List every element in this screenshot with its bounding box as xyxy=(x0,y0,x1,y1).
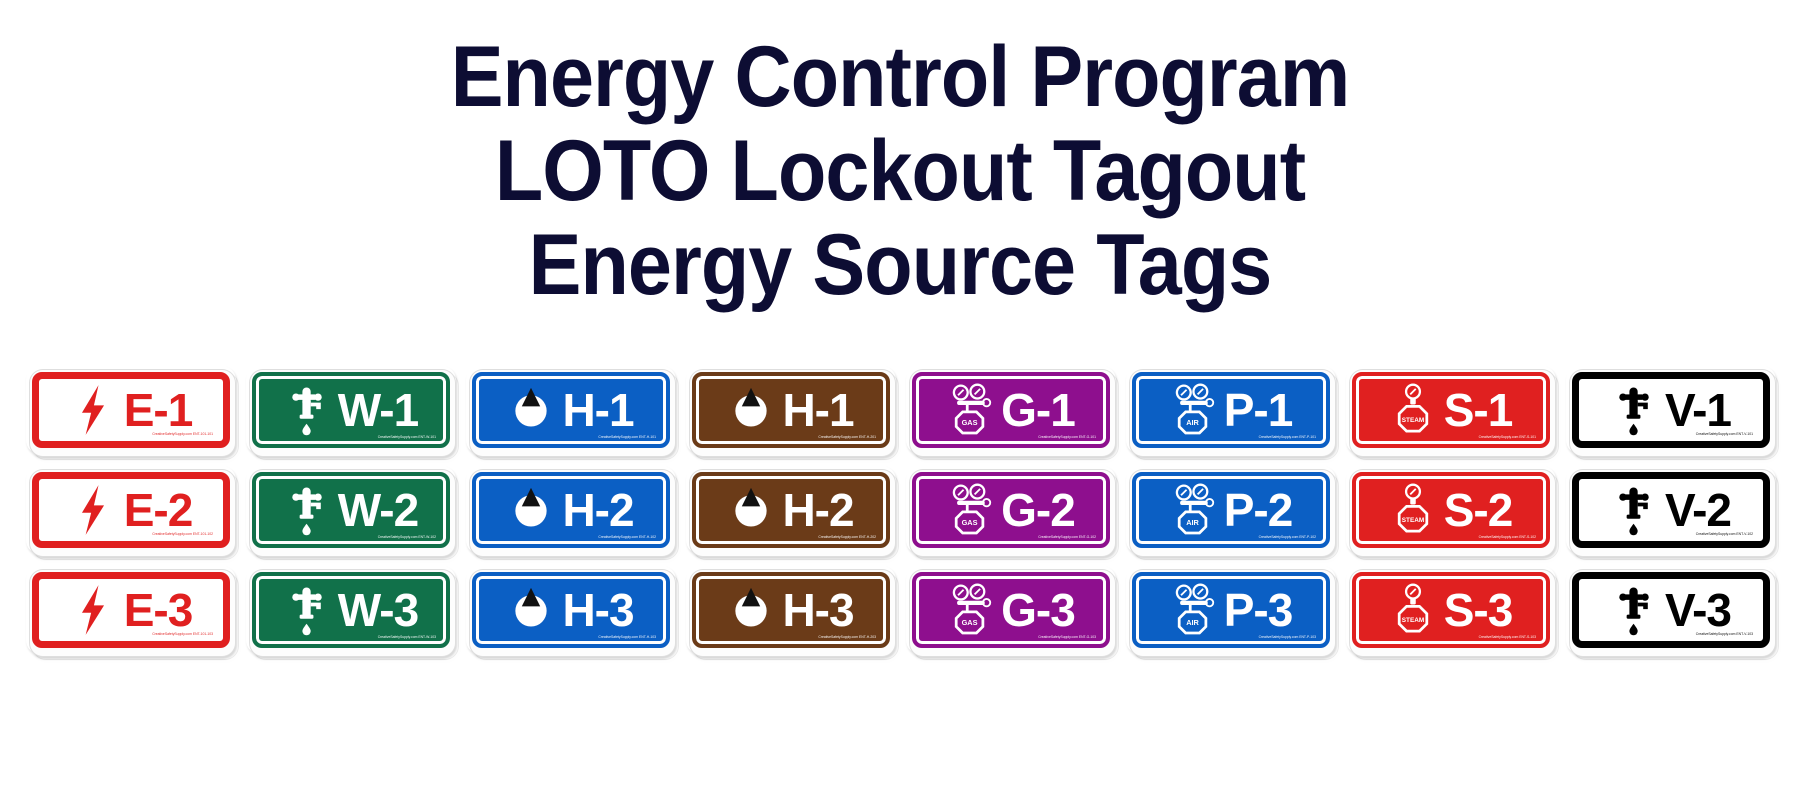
steam-valve-icon: STEAM xyxy=(1390,482,1436,538)
tag-label: H-1 xyxy=(562,387,633,433)
tag-label: S-3 xyxy=(1444,587,1513,633)
tag-label: E-1 xyxy=(124,387,193,433)
lightning-bolt-icon xyxy=(70,482,116,538)
energy-source-tag-electrical-e-1[interactable]: E-1CreativeSafetySupply.com ENT-101-101 xyxy=(26,366,236,454)
tag-label: E-2 xyxy=(124,487,193,533)
hydraulic-drop-icon xyxy=(728,482,774,538)
tag-plate: AIRP-2CreativeSafetySupply.com ENT-P-102 xyxy=(1132,472,1330,548)
tag-plate: H-2CreativeSafetySupply.com ENT-H-102 xyxy=(472,472,670,548)
energy-source-tag-steam-s-3[interactable]: STEAMS-3CreativeSafetySupply.com ENT-S-1… xyxy=(1346,566,1556,654)
tag-fineprint: CreativeSafetySupply.com ENT-V-101 xyxy=(1696,432,1753,436)
tag-fineprint: CreativeSafetySupply.com ENT-W-101 xyxy=(378,435,436,439)
steam-valve-icon: STEAM xyxy=(1390,382,1436,438)
energy-source-tag-valve-v-2[interactable]: V-2CreativeSafetySupply.com ENT-V-102 xyxy=(1566,466,1776,554)
tag-plate: V-3CreativeSafetySupply.com ENT-V-103 xyxy=(1572,572,1770,648)
hydraulic-drop-icon xyxy=(508,382,554,438)
tag-label: S-2 xyxy=(1444,487,1513,533)
tag-row: E-3CreativeSafetySupply.com ENT-101-103W… xyxy=(26,566,1781,654)
energy-source-tag-hydraulic-brown-h-3[interactable]: H-3CreativeSafetySupply.com ENT-H-203 xyxy=(686,566,896,654)
tag-plate: H-2CreativeSafetySupply.com ENT-H-202 xyxy=(692,472,890,548)
tag-label: W-2 xyxy=(338,487,418,533)
tag-fineprint: CreativeSafetySupply.com ENT-P-102 xyxy=(1259,535,1316,539)
tag-plate: H-1CreativeSafetySupply.com ENT-H-201 xyxy=(692,372,890,448)
tag-fineprint: CreativeSafetySupply.com ENT-H-103 xyxy=(598,635,656,639)
svg-text:AIR: AIR xyxy=(1186,518,1199,527)
tag-label: G-3 xyxy=(1001,587,1075,633)
svg-text:GAS: GAS xyxy=(962,618,978,627)
tag-fineprint: CreativeSafetySupply.com ENT-S-102 xyxy=(1479,535,1536,539)
tag-fineprint: CreativeSafetySupply.com ENT-S-101 xyxy=(1479,435,1536,439)
tag-plate: H-3CreativeSafetySupply.com ENT-H-103 xyxy=(472,572,670,648)
tag-label: P-3 xyxy=(1224,587,1293,633)
tag-plate: AIRP-1CreativeSafetySupply.com ENT-P-101 xyxy=(1132,372,1330,448)
tag-plate: AIRP-3CreativeSafetySupply.com ENT-P-103 xyxy=(1132,572,1330,648)
energy-source-tag-hydraulic-blue-h-1[interactable]: H-1CreativeSafetySupply.com ENT-H-101 xyxy=(466,366,676,454)
tag-fineprint: CreativeSafetySupply.com ENT-V-103 xyxy=(1696,632,1753,636)
tag-plate: STEAMS-2CreativeSafetySupply.com ENT-S-1… xyxy=(1352,472,1550,548)
air-regulator-icon: AIR xyxy=(1170,482,1216,538)
tag-fineprint: CreativeSafetySupply.com ENT-W-103 xyxy=(378,635,436,639)
gas-regulator-icon: GAS xyxy=(947,482,993,538)
energy-source-tag-steam-s-2[interactable]: STEAMS-2CreativeSafetySupply.com ENT-S-1… xyxy=(1346,466,1556,554)
energy-source-tag-electrical-e-2[interactable]: E-2CreativeSafetySupply.com ENT-101-102 xyxy=(26,466,236,554)
energy-source-tag-hydraulic-blue-h-2[interactable]: H-2CreativeSafetySupply.com ENT-H-102 xyxy=(466,466,676,554)
tag-label: S-1 xyxy=(1444,387,1513,433)
energy-source-tag-water-w-1[interactable]: W-1CreativeSafetySupply.com ENT-W-101 xyxy=(246,366,456,454)
energy-source-tag-electrical-e-3[interactable]: E-3CreativeSafetySupply.com ENT-101-103 xyxy=(26,566,236,654)
hydraulic-drop-icon xyxy=(728,582,774,638)
tag-fineprint: CreativeSafetySupply.com ENT-101-103 xyxy=(152,632,213,636)
tag-plate: GASG-1CreativeSafetySupply.com ENT-G-101 xyxy=(912,372,1110,448)
tag-fineprint: CreativeSafetySupply.com ENT-W-102 xyxy=(378,535,436,539)
tag-label: P-1 xyxy=(1224,387,1293,433)
tag-plate: E-2CreativeSafetySupply.com ENT-101-102 xyxy=(32,472,230,548)
tag-label: H-3 xyxy=(782,587,853,633)
lightning-bolt-icon xyxy=(70,382,116,438)
poster-title-block: Energy Control Program LOTO Lockout Tago… xyxy=(0,0,1800,312)
gas-regulator-icon: GAS xyxy=(947,582,993,638)
energy-source-tag-pneumatic-p-1[interactable]: AIRP-1CreativeSafetySupply.com ENT-P-101 xyxy=(1126,366,1336,454)
tag-plate: GASG-2CreativeSafetySupply.com ENT-G-102 xyxy=(912,472,1110,548)
energy-source-tag-gas-g-1[interactable]: GASG-1CreativeSafetySupply.com ENT-G-101 xyxy=(906,366,1116,454)
tag-label: V-1 xyxy=(1665,387,1731,433)
tag-fineprint: CreativeSafetySupply.com ENT-S-103 xyxy=(1479,635,1536,639)
svg-text:GAS: GAS xyxy=(962,518,978,527)
lightning-bolt-icon xyxy=(70,582,116,638)
svg-text:GAS: GAS xyxy=(962,418,978,427)
tag-fineprint: CreativeSafetySupply.com ENT-H-202 xyxy=(818,535,876,539)
energy-source-tag-pneumatic-p-2[interactable]: AIRP-2CreativeSafetySupply.com ENT-P-102 xyxy=(1126,466,1336,554)
air-regulator-icon: AIR xyxy=(1170,382,1216,438)
energy-source-tag-hydraulic-blue-h-3[interactable]: H-3CreativeSafetySupply.com ENT-H-103 xyxy=(466,566,676,654)
faucet-icon xyxy=(284,482,330,538)
tag-plate: W-2CreativeSafetySupply.com ENT-W-102 xyxy=(252,472,450,548)
tag-fineprint: CreativeSafetySupply.com ENT-P-103 xyxy=(1259,635,1316,639)
faucet-icon xyxy=(284,382,330,438)
page-title-line-3: Energy Source Tags xyxy=(72,218,1728,312)
poster-page: Energy Control Program LOTO Lockout Tago… xyxy=(0,0,1800,800)
tag-plate: GASG-3CreativeSafetySupply.com ENT-G-103 xyxy=(912,572,1110,648)
tag-fineprint: CreativeSafetySupply.com ENT-G-101 xyxy=(1038,435,1096,439)
tag-label: H-1 xyxy=(782,387,853,433)
air-regulator-icon: AIR xyxy=(1170,582,1216,638)
tag-label: V-2 xyxy=(1665,487,1731,533)
tag-fineprint: CreativeSafetySupply.com ENT-101-101 xyxy=(152,432,213,436)
tag-fineprint: CreativeSafetySupply.com ENT-H-203 xyxy=(818,635,876,639)
tag-label: H-2 xyxy=(562,487,633,533)
svg-text:AIR: AIR xyxy=(1186,418,1199,427)
svg-text:STEAM: STEAM xyxy=(1401,517,1424,524)
tag-fineprint: CreativeSafetySupply.com ENT-V-102 xyxy=(1696,532,1753,536)
steam-valve-icon: STEAM xyxy=(1390,582,1436,638)
tag-row: E-2CreativeSafetySupply.com ENT-101-102W… xyxy=(26,466,1781,554)
tag-label: P-2 xyxy=(1224,487,1293,533)
energy-source-tag-hydraulic-brown-h-1[interactable]: H-1CreativeSafetySupply.com ENT-H-201 xyxy=(686,366,896,454)
hydraulic-drop-icon xyxy=(728,382,774,438)
tag-label: W-3 xyxy=(338,587,418,633)
page-title-line-1: Energy Control Program xyxy=(72,30,1728,124)
faucet-icon xyxy=(1611,582,1657,638)
energy-source-tag-gas-g-2[interactable]: GASG-2CreativeSafetySupply.com ENT-G-102 xyxy=(906,466,1116,554)
tag-plate: STEAMS-3CreativeSafetySupply.com ENT-S-1… xyxy=(1352,572,1550,648)
tag-label: W-1 xyxy=(338,387,418,433)
energy-source-tag-steam-s-1[interactable]: STEAMS-1CreativeSafetySupply.com ENT-S-1… xyxy=(1346,366,1556,454)
faucet-icon xyxy=(284,582,330,638)
svg-text:AIR: AIR xyxy=(1186,618,1199,627)
energy-source-tag-valve-v-1[interactable]: V-1CreativeSafetySupply.com ENT-V-101 xyxy=(1566,366,1776,454)
tag-fineprint: CreativeSafetySupply.com ENT-H-201 xyxy=(818,435,876,439)
tag-label: G-2 xyxy=(1001,487,1075,533)
tag-fineprint: CreativeSafetySupply.com ENT-P-101 xyxy=(1259,435,1316,439)
energy-source-tag-valve-v-3[interactable]: V-3CreativeSafetySupply.com ENT-V-103 xyxy=(1566,566,1776,654)
svg-text:STEAM: STEAM xyxy=(1401,417,1424,424)
tag-row: E-1CreativeSafetySupply.com ENT-101-101W… xyxy=(26,366,1781,454)
tag-fineprint: CreativeSafetySupply.com ENT-101-102 xyxy=(152,532,213,536)
tag-plate: W-3CreativeSafetySupply.com ENT-W-103 xyxy=(252,572,450,648)
tag-plate: H-1CreativeSafetySupply.com ENT-H-101 xyxy=(472,372,670,448)
tag-plate: STEAMS-1CreativeSafetySupply.com ENT-S-1… xyxy=(1352,372,1550,448)
tag-label: H-2 xyxy=(782,487,853,533)
tag-label: E-3 xyxy=(124,587,193,633)
tag-plate: E-1CreativeSafetySupply.com ENT-101-101 xyxy=(32,372,230,448)
tag-fineprint: CreativeSafetySupply.com ENT-G-102 xyxy=(1038,535,1096,539)
energy-source-tag-hydraulic-brown-h-2[interactable]: H-2CreativeSafetySupply.com ENT-H-202 xyxy=(686,466,896,554)
tag-plate: V-2CreativeSafetySupply.com ENT-V-102 xyxy=(1572,472,1770,548)
energy-source-tag-pneumatic-p-3[interactable]: AIRP-3CreativeSafetySupply.com ENT-P-103 xyxy=(1126,566,1336,654)
tag-plate: E-3CreativeSafetySupply.com ENT-101-103 xyxy=(32,572,230,648)
tag-label: V-3 xyxy=(1665,587,1731,633)
tag-fineprint: CreativeSafetySupply.com ENT-H-102 xyxy=(598,535,656,539)
tag-plate: W-1CreativeSafetySupply.com ENT-W-101 xyxy=(252,372,450,448)
faucet-icon xyxy=(1611,482,1657,538)
tag-fineprint: CreativeSafetySupply.com ENT-H-101 xyxy=(598,435,656,439)
energy-source-tag-grid: E-1CreativeSafetySupply.com ENT-101-101W… xyxy=(26,366,1781,654)
gas-regulator-icon: GAS xyxy=(947,382,993,438)
hydraulic-drop-icon xyxy=(508,482,554,538)
energy-source-tag-gas-g-3[interactable]: GASG-3CreativeSafetySupply.com ENT-G-103 xyxy=(906,566,1116,654)
tag-label: H-3 xyxy=(562,587,633,633)
page-title-line-2: LOTO Lockout Tagout xyxy=(72,124,1728,218)
tag-label: G-1 xyxy=(1001,387,1075,433)
tag-fineprint: CreativeSafetySupply.com ENT-G-103 xyxy=(1038,635,1096,639)
energy-source-tag-water-w-2[interactable]: W-2CreativeSafetySupply.com ENT-W-102 xyxy=(246,466,456,554)
faucet-icon xyxy=(1611,382,1657,438)
tag-plate: V-1CreativeSafetySupply.com ENT-V-101 xyxy=(1572,372,1770,448)
tag-plate: H-3CreativeSafetySupply.com ENT-H-203 xyxy=(692,572,890,648)
energy-source-tag-water-w-3[interactable]: W-3CreativeSafetySupply.com ENT-W-103 xyxy=(246,566,456,654)
hydraulic-drop-icon xyxy=(508,582,554,638)
svg-text:STEAM: STEAM xyxy=(1401,617,1424,624)
